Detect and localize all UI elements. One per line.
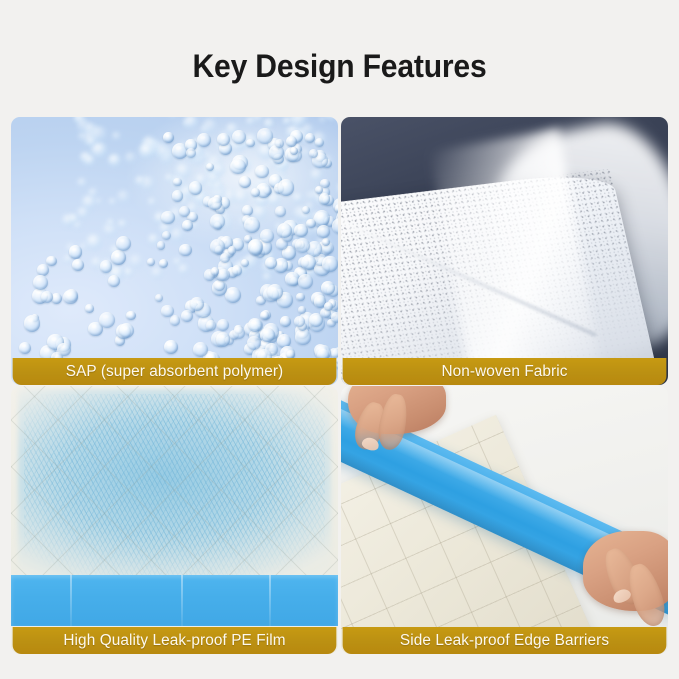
feature-card-sap[interactable]: SAP (super absorbent polymer) xyxy=(11,117,338,385)
pe-film-blue-band xyxy=(11,575,338,626)
edge-barriers-photo xyxy=(341,386,668,654)
sap-photo xyxy=(11,117,338,385)
page-title: Key Design Features xyxy=(20,48,658,85)
non-woven-photo xyxy=(341,117,668,385)
caption-non-woven-fabric: Non-woven Fabric xyxy=(343,358,667,385)
feature-card-pe-film[interactable]: High Quality Leak-proof PE Film xyxy=(11,386,338,654)
caption-pe-film: High Quality Leak-proof PE Film xyxy=(13,627,337,654)
feature-card-edge-barriers[interactable]: Side Leak-proof Edge Barriers xyxy=(341,386,668,654)
pe-film-photo xyxy=(11,386,338,654)
feature-card-non-woven-fabric[interactable]: Non-woven Fabric xyxy=(341,117,668,385)
feature-grid: SAP (super absorbent polymer) Non-woven … xyxy=(11,117,668,654)
caption-edge-barriers: Side Leak-proof Edge Barriers xyxy=(343,627,667,654)
caption-sap: SAP (super absorbent polymer) xyxy=(13,358,337,385)
